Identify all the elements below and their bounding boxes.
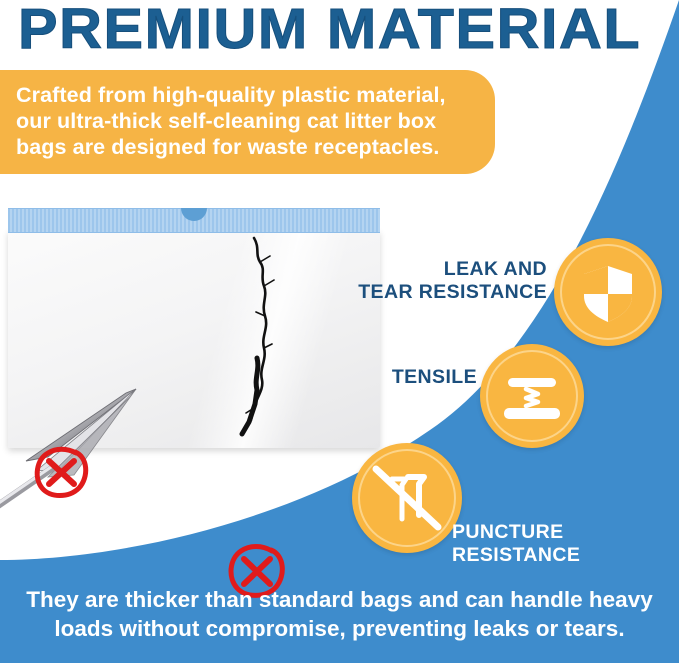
- badge-tensile[interactable]: [480, 344, 584, 448]
- tensile-spring-icon: [480, 344, 584, 448]
- feature-label-puncture-resistance: PUNCTURE RESISTANCE: [452, 521, 679, 567]
- badge-puncture-resistance[interactable]: [352, 443, 462, 553]
- spear-puncture-marker: [32, 444, 92, 502]
- feature-label-leak-and-tear: LEAK AND TEAR RESISTANCE: [358, 258, 547, 304]
- callout-text: Crafted from high-quality plastic materi…: [16, 82, 449, 160]
- footer-text: They are thicker than standard bags and …: [0, 585, 679, 643]
- page-title: PREMIUM MATERIAL: [18, 0, 641, 60]
- infographic-canvas: PREMIUM MATERIAL Crafted from high-quali…: [0, 0, 679, 663]
- callout-box: Crafted from high-quality plastic materi…: [0, 70, 495, 174]
- feature-label-tensile: TENSILE: [392, 366, 477, 389]
- no-nails-icon: [352, 443, 462, 553]
- badge-leak-and-tear-resistance[interactable]: [554, 238, 662, 346]
- product-bag-illustration: [8, 208, 380, 448]
- shield-icon: [554, 238, 662, 346]
